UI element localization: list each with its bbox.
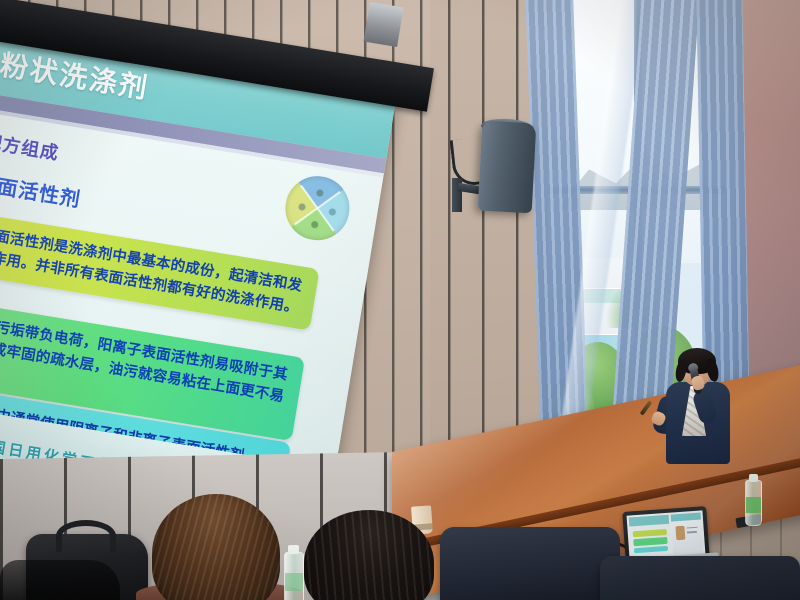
preview-image [675,526,685,540]
preview-bullet [634,546,668,553]
laptop-next-slide-panel [671,513,703,555]
chair-foreground [440,527,620,600]
preview-bullet [633,529,667,538]
backpack-handle [56,520,116,552]
slide-emblem-icon [278,169,356,247]
slide-heading-composition: 配方组成 [0,128,61,166]
foreground-shadow [0,560,120,600]
preview-bullet [633,537,667,546]
preview-title-band [629,515,670,527]
wall-speaker [478,121,537,214]
bottle-label [285,573,303,591]
chair-foreground [600,556,800,600]
bottle-cap [749,474,758,482]
preview-text-line [687,526,698,528]
preview-title-band [671,513,701,522]
conference-room-photo: 粉状洗涤剂 配方组成 表面活性剂 表面活性剂是洗涤剂中最基本的成份，起清洁和发泡… [0,0,800,600]
presenter [652,352,744,464]
bottle-cap [288,545,299,554]
slide-heading-surfactant: 表面活性剂 [0,167,83,213]
preview-text-line [687,531,697,533]
slide-bullet-box: 表面活性剂是洗涤剂中最基本的成份，起清洁和发泡作用。并非所有表面活性剂都有好的洗… [0,212,320,330]
bottle-label [746,497,761,513]
emblem-divider-icon [294,191,341,225]
laptop-display [627,510,706,559]
water-bottle [745,480,762,526]
screen-case-clip [364,2,404,47]
laptop-slide-preview [629,515,672,558]
water-bottle-foreground [284,552,304,600]
emblem-divider-icon [300,185,334,232]
